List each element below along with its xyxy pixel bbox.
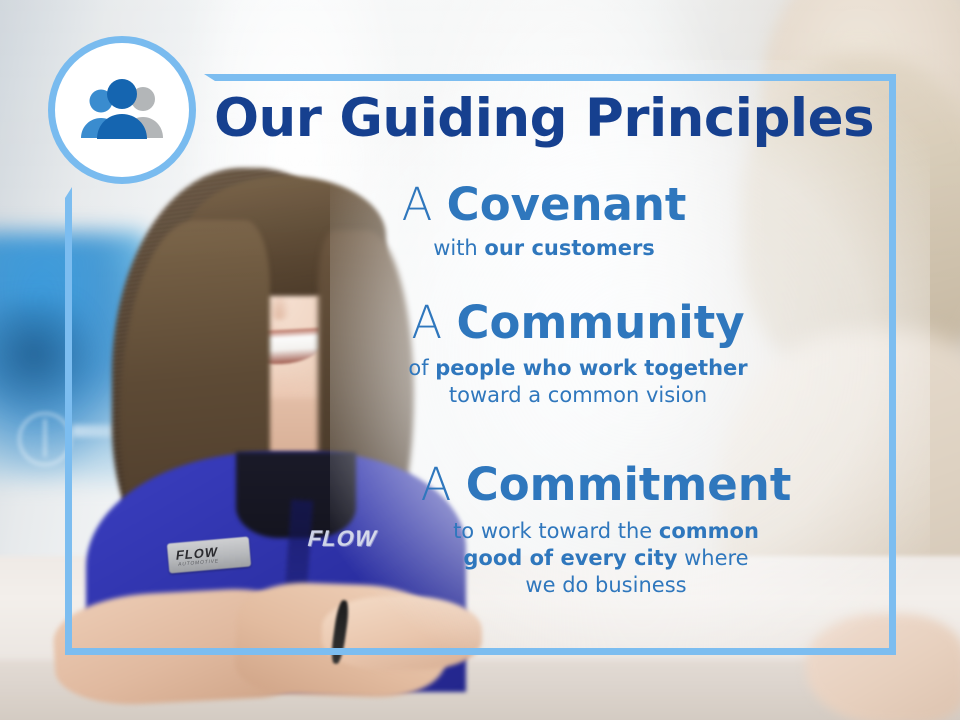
- principle-subtext-line: good of every city where: [296, 545, 916, 572]
- principle-headline: A Community: [268, 300, 888, 346]
- frame-left-border: [65, 198, 72, 655]
- subtext-plain: of: [408, 356, 435, 380]
- principle-subtext-line: to work toward the common: [296, 518, 916, 545]
- customer-hand: [806, 614, 960, 720]
- principle-keyword: Covenant: [447, 178, 687, 231]
- principle-subtext: with our customers: [234, 235, 854, 262]
- subtext-emphasis: people who work together: [435, 356, 747, 380]
- principle-subtext-line: with our customers: [234, 235, 854, 262]
- frame-bottom-border: [65, 648, 896, 655]
- principle-article: A: [411, 296, 456, 349]
- subtext-emphasis: common: [659, 519, 759, 543]
- principle-subtext-line: of people who work together: [268, 355, 888, 382]
- principle-headline: A Covenant: [234, 182, 854, 228]
- principle-subtext-line: we do business: [296, 572, 916, 599]
- principle-article: A: [421, 458, 466, 511]
- principle-keyword: Community: [457, 296, 745, 349]
- principle-commitment: A Commitment to work toward the commongo…: [296, 462, 916, 600]
- page-title: Our Guiding Principles: [214, 92, 874, 146]
- subtext-plain: toward a common vision: [449, 383, 707, 407]
- frame-top-border: [215, 74, 896, 81]
- subtext-plain: we do business: [525, 573, 686, 597]
- subtext-emphasis: good of every city: [463, 546, 677, 570]
- principle-article: A: [402, 178, 447, 231]
- principle-subtext: of people who work togethertoward a comm…: [268, 355, 888, 410]
- principle-subtext: to work toward the commongood of every c…: [296, 518, 916, 600]
- subtext-plain: with: [433, 236, 484, 260]
- principle-keyword: Commitment: [466, 458, 792, 511]
- subtext-plain: where: [677, 546, 748, 570]
- badge-circle: [48, 36, 196, 184]
- principle-subtext-line: toward a common vision: [268, 382, 888, 409]
- people-group-icon: [76, 78, 168, 142]
- blurred-car-shadow: [0, 300, 100, 420]
- principle-covenant: A Covenant with our customers: [234, 182, 854, 262]
- principle-headline: A Commitment: [296, 462, 916, 508]
- subtext-plain: to work toward the: [453, 519, 659, 543]
- subtext-emphasis: our customers: [484, 236, 654, 260]
- guiding-principles-graphic: FLOW AUTOMOTIVE FLOW Our Guiding Princip…: [0, 0, 960, 720]
- principle-community: A Community of people who work togethert…: [268, 300, 888, 409]
- blurred-brand-logo-icon: [18, 412, 72, 466]
